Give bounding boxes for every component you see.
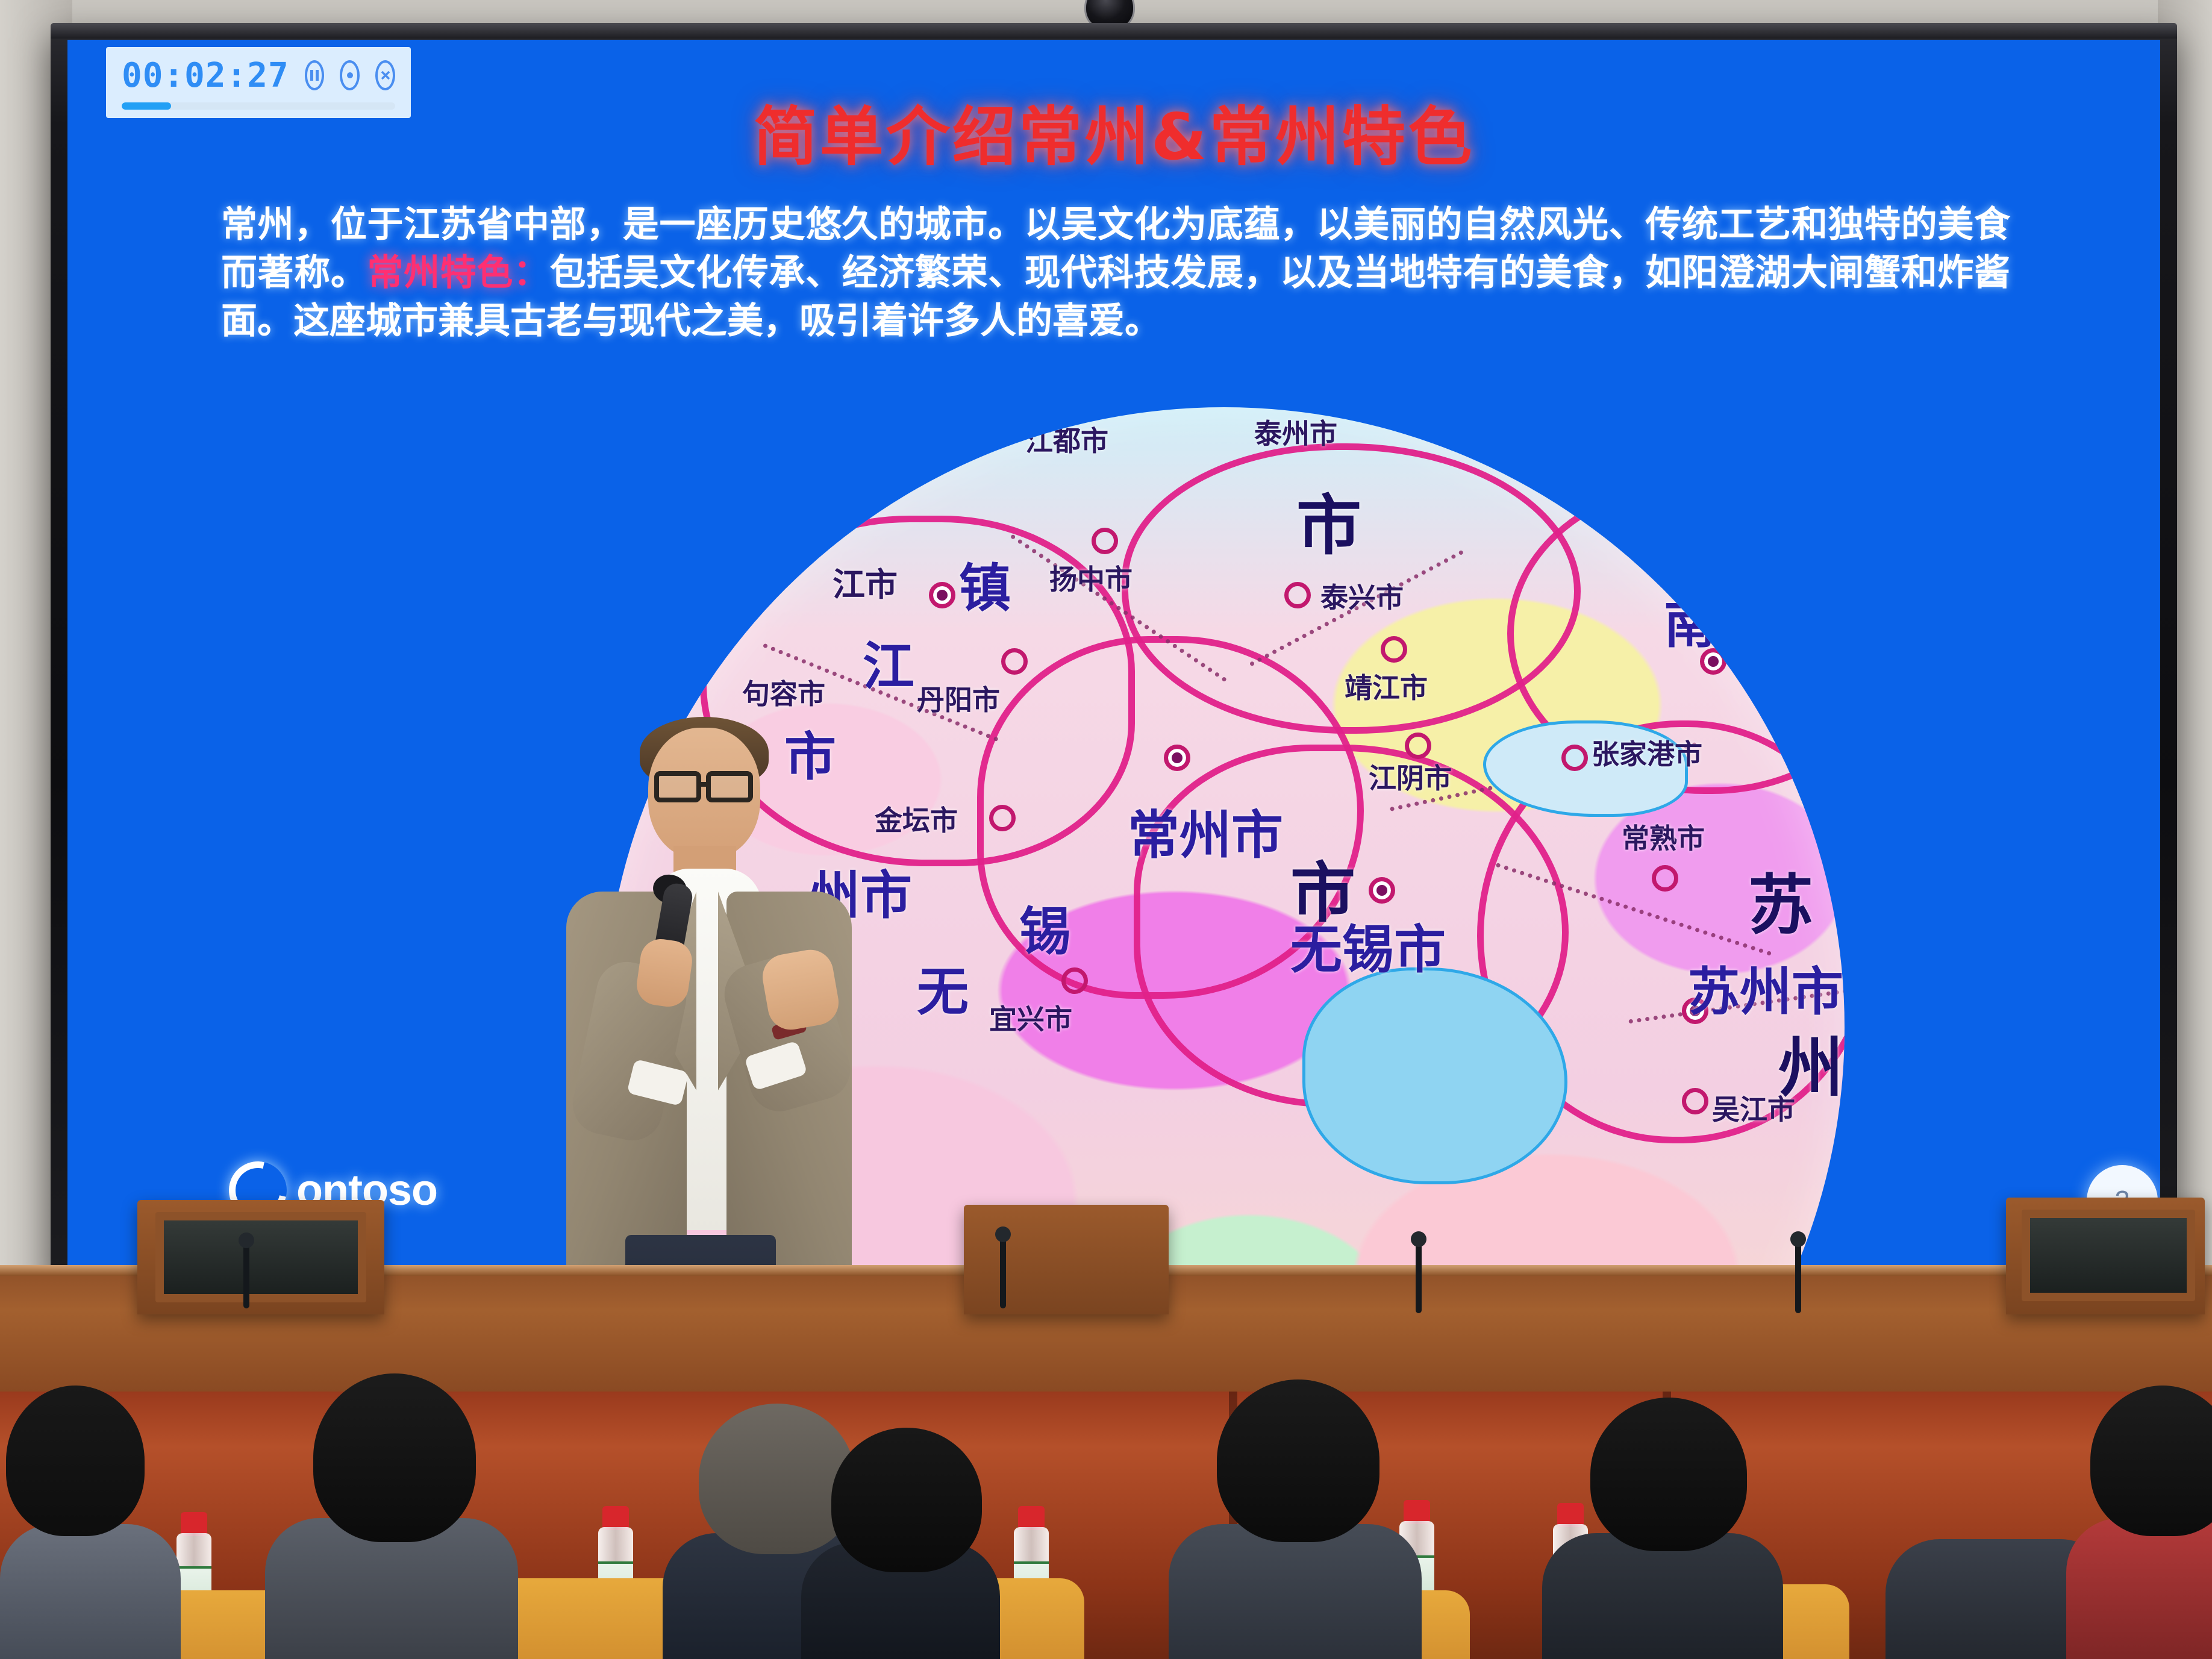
map-city-dot-jingjiang <box>1381 636 1407 663</box>
map-city-label: 如皋 <box>1628 431 1693 479</box>
map-city-label: 泰兴市 <box>1320 576 1404 616</box>
map-city-label: 江阴市 <box>1369 757 1452 796</box>
map-city-label: 无 <box>917 949 969 1025</box>
eyeglasses-right-lens <box>706 771 753 802</box>
audience-person-head <box>1217 1379 1379 1542</box>
map-city-label: 江市 <box>833 558 898 605</box>
audience-person-shoulders <box>1542 1533 1783 1659</box>
water-bottle-cap <box>1018 1506 1045 1530</box>
desk-microphone-head <box>1411 1231 1426 1247</box>
map-city-dot-wujiang <box>1682 1088 1708 1114</box>
audience-person-head <box>6 1386 145 1536</box>
map-city-label: 锡 <box>1019 889 1071 964</box>
recording-elapsed-time: 00:02:27 <box>122 56 289 95</box>
map-city-dot-changzhou <box>1164 745 1190 771</box>
eyeglasses-left-lens <box>654 771 701 802</box>
podium-desk-center <box>964 1205 1169 1314</box>
audience-person-head <box>699 1404 855 1554</box>
stop-record-button[interactable] <box>340 60 360 90</box>
presentation-slide: 简单介绍常州&常州特色 常州，位于江苏省中部，是一座历史悠久的城市。以吴文化为底… <box>67 40 2160 1266</box>
podium-monitor-left <box>155 1212 366 1302</box>
slide-body-text: 常州，位于江苏省中部，是一座历史悠久的城市。以吴文化为底蕴，以美丽的自然风光、传… <box>221 201 2010 345</box>
desk-microphone-head <box>995 1226 1011 1242</box>
audience-person-shoulders <box>1169 1524 1422 1659</box>
map-city-label: 吴江市 <box>1712 1088 1795 1128</box>
map-city-dot-jiangyin <box>1405 733 1431 759</box>
water-bottle-cap <box>181 1512 207 1536</box>
podium-monitor-right <box>2022 1210 2195 1301</box>
map-city-label: 苏 <box>1748 853 1813 947</box>
map-city-dot-wuxi <box>1369 877 1395 904</box>
audience-person-head <box>313 1373 476 1542</box>
desk-microphone-head <box>239 1233 254 1248</box>
map-city-label: 无锡市 <box>1290 907 1446 983</box>
desk-microphone-stem <box>1416 1241 1422 1313</box>
map-city-label: 市 <box>1296 473 1361 567</box>
desk-microphone-stem <box>1795 1241 1801 1313</box>
map-city-label: 南通 <box>1664 582 1767 657</box>
map-city-label: 丹阳市 <box>917 678 1000 718</box>
map-city-label: 苏州市 <box>1688 949 1843 1025</box>
map-city-label: 金坛市 <box>875 799 958 839</box>
slide-body-highlight: 常州特色： <box>367 252 550 294</box>
conference-room-scene: 简单介绍常州&常州特色 常州，位于江苏省中部，是一座历史悠久的城市。以吴文化为底… <box>0 0 2212 1659</box>
audience-person-shoulders <box>2066 1518 2212 1659</box>
audience-person-head <box>1928 1413 2078 1557</box>
map-city-label: 常熟市 <box>1622 817 1705 857</box>
map-city-dot-changshu <box>1652 865 1678 892</box>
audience-person-shoulders <box>0 1524 181 1659</box>
water-bottle-cap <box>1404 1500 1430 1524</box>
bezel-top-highlight <box>51 23 2177 39</box>
map-city-label: 宜兴市 <box>989 998 1072 1037</box>
screen-recorder-widget[interactable]: 00:02:27 <box>106 47 411 118</box>
desk-microphone-head <box>1790 1231 1806 1247</box>
map-city-label: 句容市 <box>742 672 825 712</box>
recording-progress-bar[interactable] <box>122 102 395 110</box>
audience-person-head <box>1590 1398 1747 1551</box>
map-city-label: 江都市 <box>1025 419 1108 459</box>
map-city-dot-taixing <box>1284 582 1311 608</box>
map-city-dot-zhangjiagang <box>1561 745 1588 771</box>
map-city-label: 常州市 <box>1128 793 1283 868</box>
map-city-label: 扬中市 <box>1049 558 1133 598</box>
map-city-label: 泰州市 <box>1254 412 1337 452</box>
audience-person-head <box>831 1428 982 1572</box>
water-bottle-cap <box>1557 1503 1584 1527</box>
pause-button[interactable] <box>305 60 325 90</box>
map-city-dot-yixing <box>1061 967 1088 994</box>
water-bottle-cap <box>602 1506 629 1530</box>
map-city-dot-jintan <box>989 805 1016 831</box>
eyeglasses-bridge <box>700 782 708 787</box>
desk-microphone-stem <box>243 1242 249 1308</box>
map-city-dot-yangzhong <box>1092 528 1118 554</box>
recorder-controls-row: 00:02:27 <box>122 56 395 95</box>
map-city-dot-zhenjiang <box>929 582 955 608</box>
map-city-label: 镇 <box>959 546 1011 621</box>
map-city-label: 靖江市 <box>1345 666 1428 706</box>
close-button[interactable] <box>375 60 395 90</box>
recording-progress-fill <box>122 102 171 110</box>
map-city-label: 江 <box>863 624 914 699</box>
map-city-label: 张家港市 <box>1592 733 1702 772</box>
presenter-person <box>512 711 873 1343</box>
map-city-dot-danyang <box>1001 648 1028 675</box>
desk-microphone-stem <box>1000 1236 1006 1308</box>
